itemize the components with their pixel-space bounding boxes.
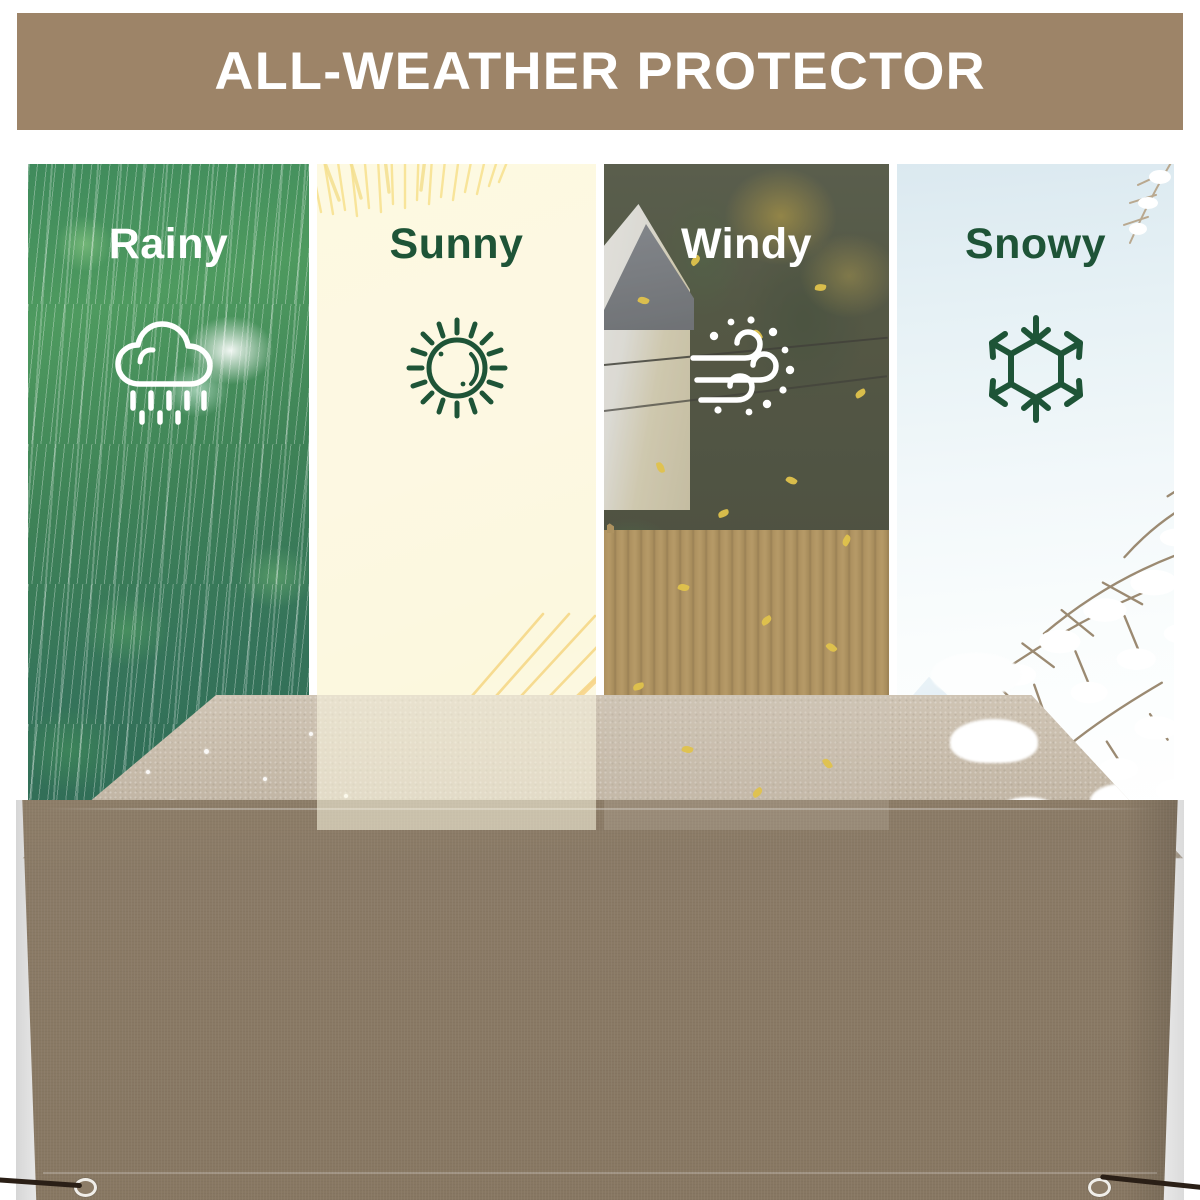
sun-icon [401,314,513,427]
weather-label-rainy: Rainy [28,220,309,269]
cover-front-texture [20,800,1180,1200]
header-banner: ALL-WEATHER PROTECTOR [17,13,1183,130]
snowflake-icon [983,314,1089,429]
grommet-right [1088,1178,1111,1197]
weather-label-sunny: Sunny [317,220,596,269]
weather-label-windy: Windy [604,220,889,269]
wind-icon [687,314,807,423]
furniture-cover [0,650,1200,1200]
weather-label-snowy: Snowy [897,220,1174,269]
banner-title: ALL-WEATHER PROTECTOR [214,41,985,102]
cover-bottom-hem [43,1172,1157,1174]
cover-right-fold-shadow [1124,800,1184,1200]
cover-top-seam [43,808,1157,810]
product-marketing-image: ALL-WEATHER PROTECTOR Rainy [0,0,1200,1200]
rain-cloud-icon [110,314,228,431]
cover-front-face [20,800,1180,1200]
